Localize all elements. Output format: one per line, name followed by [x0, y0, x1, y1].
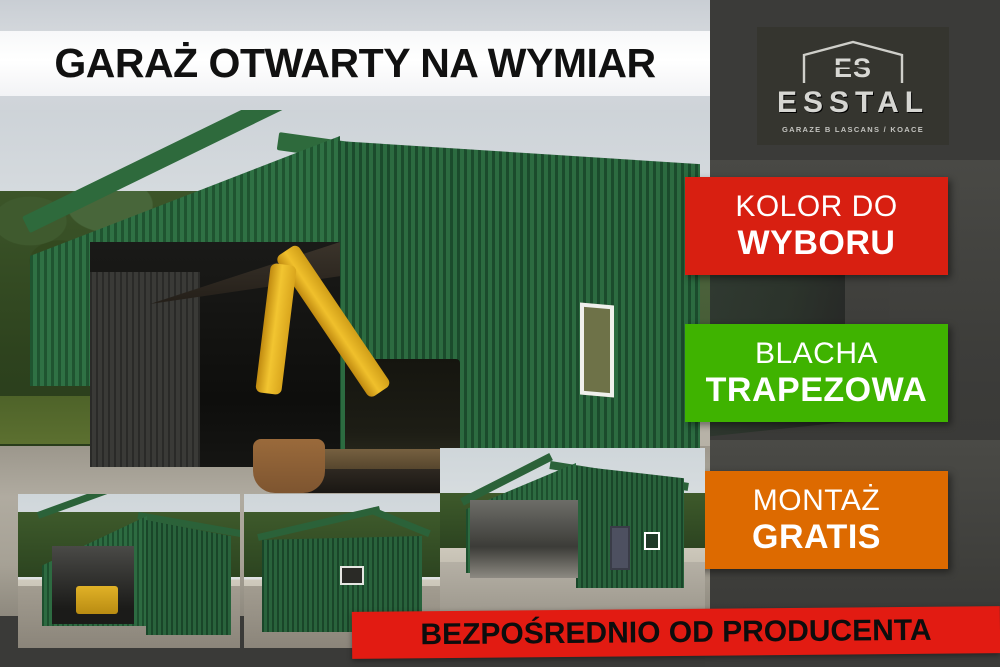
side-window [580, 303, 614, 398]
advertisement-poster: 537 649 263 Esstal.com GARAŻ OTWARTY NA … [0, 0, 1000, 667]
thumb-side-wall [146, 520, 231, 635]
badge-line-1: MONTAŻ [753, 484, 880, 518]
bottom-banner: BEZPOŚREDNIO OD PRODUCENTA [352, 606, 1000, 659]
brand-logo[interactable]: ES ESSTAL GARAZE B LASCANS / KOACE [757, 27, 949, 145]
excavator-bucket [253, 439, 325, 493]
excavator-dipper [255, 263, 297, 395]
badge-line-2: TRAPEZOWA [706, 371, 928, 409]
svg-text:ES: ES [834, 53, 872, 83]
headline-banner: GARAŻ OTWARTY NA WYMIAR [0, 31, 710, 96]
yellow-excavator [245, 264, 460, 494]
interior-wall [90, 272, 200, 467]
badge-line-2: WYBORU [738, 224, 896, 262]
thumb-digger [76, 586, 118, 614]
thumbnail-garage-open-front[interactable] [18, 494, 240, 648]
badge-kolor-do-wyboru[interactable]: KOLOR DO WYBORU [685, 177, 948, 275]
thumbnail-garage-3d-render[interactable] [440, 448, 705, 620]
logo-wordmark: ESSTAL [777, 88, 929, 118]
thumb-window [340, 566, 364, 585]
thumb-opening [470, 500, 578, 578]
barn-outline-icon: ES [798, 39, 908, 85]
headline-text: GARAŻ OTWARTY NA WYMIAR [54, 40, 655, 87]
bottom-banner-text: BEZPOŚREDNIO OD PRODUCENTA [420, 613, 931, 651]
thumb-door [610, 526, 630, 570]
badge-blacha-trapezowa[interactable]: BLACHA TRAPEZOWA [685, 324, 948, 422]
thumb-window [644, 532, 660, 550]
badge-line-1: BLACHA [755, 337, 878, 371]
badge-line-1: KOLOR DO [735, 190, 897, 224]
thumb-side-wall [576, 466, 684, 588]
badge-montaz-gratis[interactable]: MONTAŻ GRATIS [685, 471, 948, 569]
logo-tagline: GARAZE B LASCANS / KOACE [782, 125, 924, 134]
badge-line-2: GRATIS [752, 518, 881, 556]
